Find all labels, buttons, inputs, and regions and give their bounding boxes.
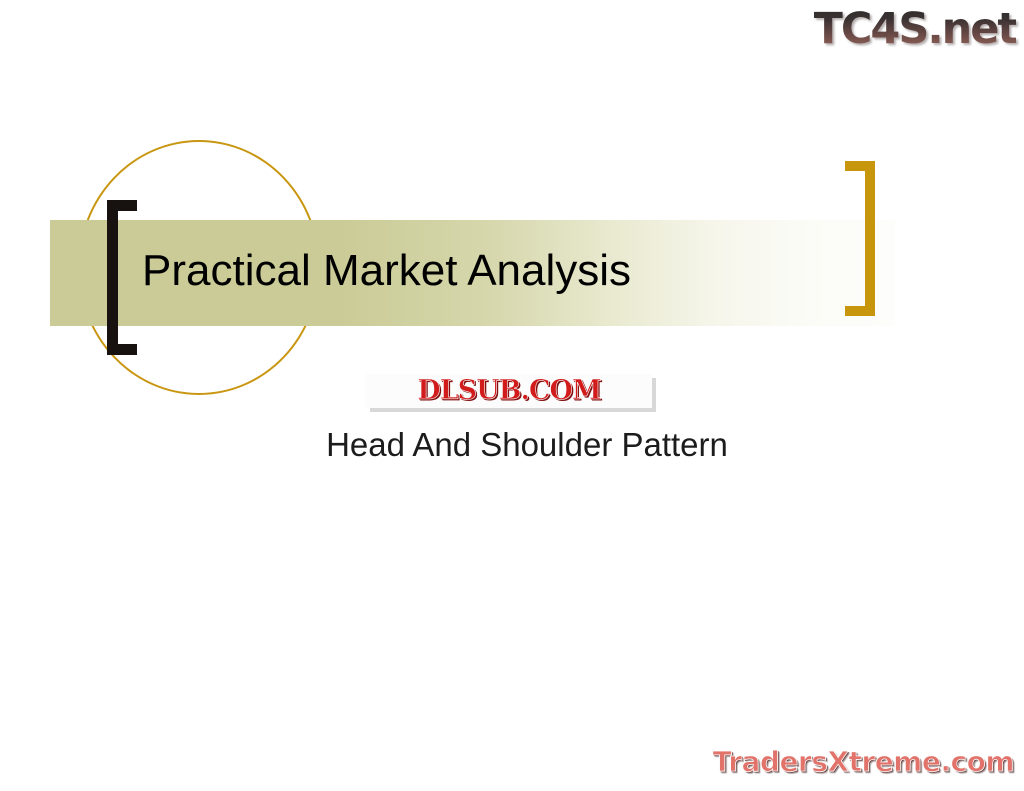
- tradersxtreme-watermark: TradersXtreme.com: [713, 745, 1014, 779]
- slide-subtitle: Head And Shoulder Pattern: [0, 424, 1024, 466]
- dlsub-watermark: DLSUB.COM: [366, 374, 656, 412]
- page-title: Practical Market Analysis: [142, 243, 842, 299]
- dlsub-watermark-text: DLSUB.COM: [366, 374, 652, 408]
- presentation-slide: TC4S.net Practical Market Analysis DLSUB…: [0, 0, 1024, 791]
- right-bracket-icon: [845, 161, 875, 316]
- tc4s-watermark: TC4S.net: [814, 4, 1016, 54]
- left-bracket-icon: [107, 200, 137, 355]
